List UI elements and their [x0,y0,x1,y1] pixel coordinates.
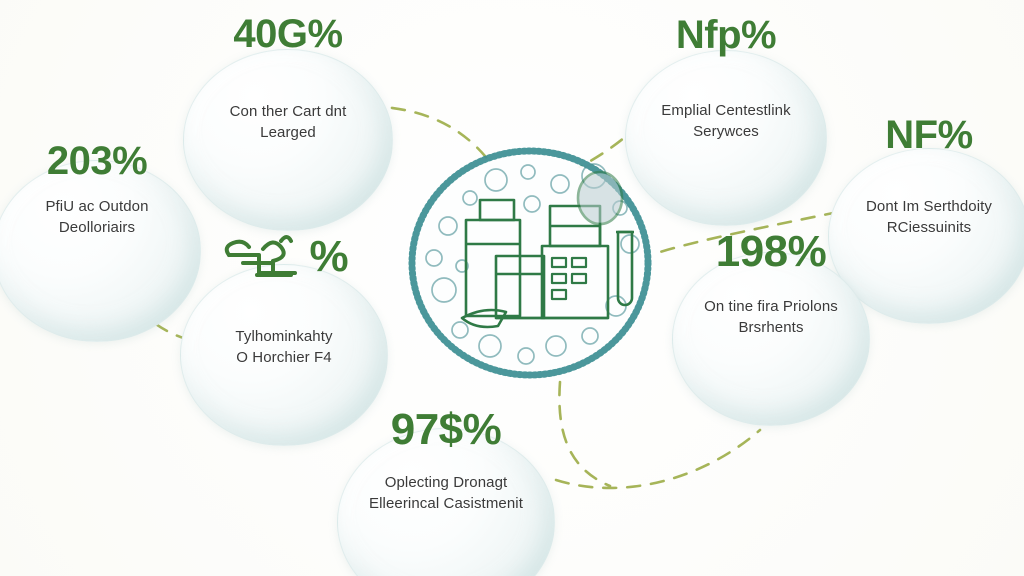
stat-value: Nfp% [626,13,826,58]
stat-label: Oplecting Dronagt Elleerincal Casistmeni… [338,473,554,514]
stat-label-line1: PfiU ac Outdon [0,197,194,218]
stat-label: Emplial Centestlink Serywces [626,101,826,142]
infographic-canvas: 40G% Con ther Cart dnt Learged Nfp% Empl… [0,0,1024,576]
stat-label: PfiU ac Outdon Deolloriairs [0,197,200,238]
stat-label-line2: Brsrhents [679,318,863,339]
stat-value: 203% [0,139,200,184]
stat-bubble-mid-right[interactable]: 198% On tine fira Priolons Brsrhents [672,252,870,426]
stat-label-line1: Con ther Cart dnt [190,102,386,123]
stat-label-line1: On tine fira Priolons [679,297,863,318]
connector-bottom-a [559,382,610,486]
stat-label: Con ther Cart dnt Learged [184,102,392,143]
stat-label-line1: Emplial Centestlink [632,101,820,122]
stat-value-scribble: % [181,231,387,283]
stat-label-line2: Deolloriairs [0,218,194,239]
stat-bubble-bottom[interactable]: 97$% Oplecting Dronagt Elleerincal Casis… [337,428,555,576]
stat-value: 97$% [338,405,554,455]
stat-label-line2: Elleerincal Casistmenit [344,494,548,515]
stat-bubble-top-left[interactable]: 40G% Con ther Cart dnt Learged [183,49,393,231]
stat-bubble-top-right[interactable]: Nfp% Emplial Centestlink Serywces [625,50,827,226]
stat-bubble-left[interactable]: 203% PfiU ac Outdon Deolloriairs [0,160,201,342]
connector-bottom-b [556,430,760,488]
stat-label-line1: Dont Im Serthdoity [835,197,1023,218]
stat-label-line2: O Horchier F4 [187,348,381,369]
stat-label-line2: Serywces [632,122,820,143]
stat-value: 40G% [184,12,392,57]
central-hub [404,140,656,386]
stat-label-line1: Tylhominkahty [187,327,381,348]
stat-percent-sign: % [309,232,348,281]
stat-value: 198% [673,227,869,277]
stat-label-line2: Learged [190,123,386,144]
stat-label: On tine fira Priolons Brsrhents [673,297,869,338]
illegible-glyph-icon [219,231,315,283]
stat-value: NF% [829,113,1024,158]
stat-label-line1: Oplecting Dronagt [344,473,548,494]
stat-label: Tylhominkahty O Horchier F4 [181,327,387,368]
